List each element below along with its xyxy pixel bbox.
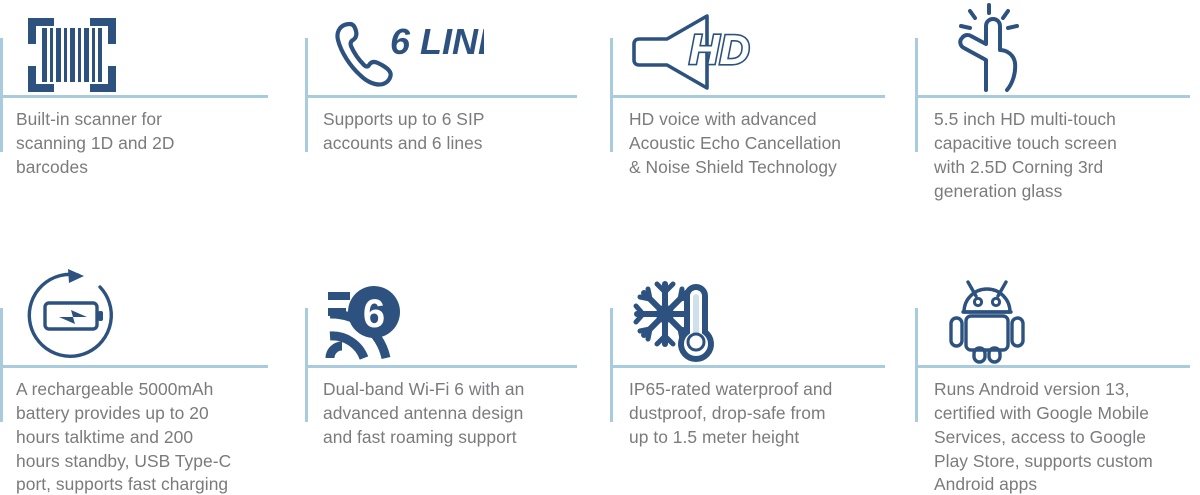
feature-description: Dual-band Wi-Fi 6 with an advanced anten… (323, 378, 599, 450)
feature-description: HD voice with advanced Acoustic Echo Can… (629, 108, 905, 180)
icon-zone (910, 250, 1200, 366)
card-rule-horizontal (915, 95, 1190, 98)
icon-zone: HD (605, 0, 905, 96)
barcode-scanner-icon (26, 16, 118, 94)
feature-description: A rechargeable 5000mAh battery provides … (16, 378, 292, 495)
icon-zone: 6 LINES (300, 0, 600, 96)
wifi-six-label: 6 (363, 292, 385, 336)
icon-zone (0, 0, 300, 96)
icon-zone (0, 250, 300, 366)
hd-speaker-icon: HD (629, 10, 761, 94)
touch-gesture-icon (948, 2, 1032, 94)
feature-description: Built-in scanner for scanning 1D and 2D … (16, 108, 292, 180)
feature-description: 5.5 inch HD multi-touch capacitive touch… (934, 108, 1200, 203)
snowflake-thermometer-icon (629, 276, 721, 364)
card-rule-horizontal (610, 95, 885, 98)
card-rule-horizontal (305, 365, 577, 368)
feature-grid: Built-in scanner for scanning 1D and 2D … (0, 0, 1200, 495)
feature-description: Runs Android version 13, certified with … (934, 378, 1200, 495)
card-rule-horizontal (915, 365, 1190, 368)
rechargeable-battery-icon (26, 268, 122, 364)
feature-description: Supports up to 6 SIP accounts and 6 line… (323, 108, 599, 156)
card-rule-horizontal (0, 95, 268, 98)
wifi-6-icon: 6 (324, 284, 404, 364)
icon-zone (910, 0, 1200, 96)
phone-handset-icon: 6 LINES (324, 14, 484, 94)
six-lines-label: 6 LINES (390, 21, 484, 62)
feature-description: IP65-rated waterproof and dustproof, dro… (629, 378, 905, 450)
icon-zone (605, 250, 905, 366)
card-rule-horizontal (0, 365, 268, 368)
icon-zone: 6 (300, 250, 600, 366)
android-robot-icon (948, 276, 1030, 364)
card-rule-horizontal (305, 95, 577, 98)
hd-label: HD (689, 26, 750, 73)
card-rule-horizontal (610, 365, 885, 368)
